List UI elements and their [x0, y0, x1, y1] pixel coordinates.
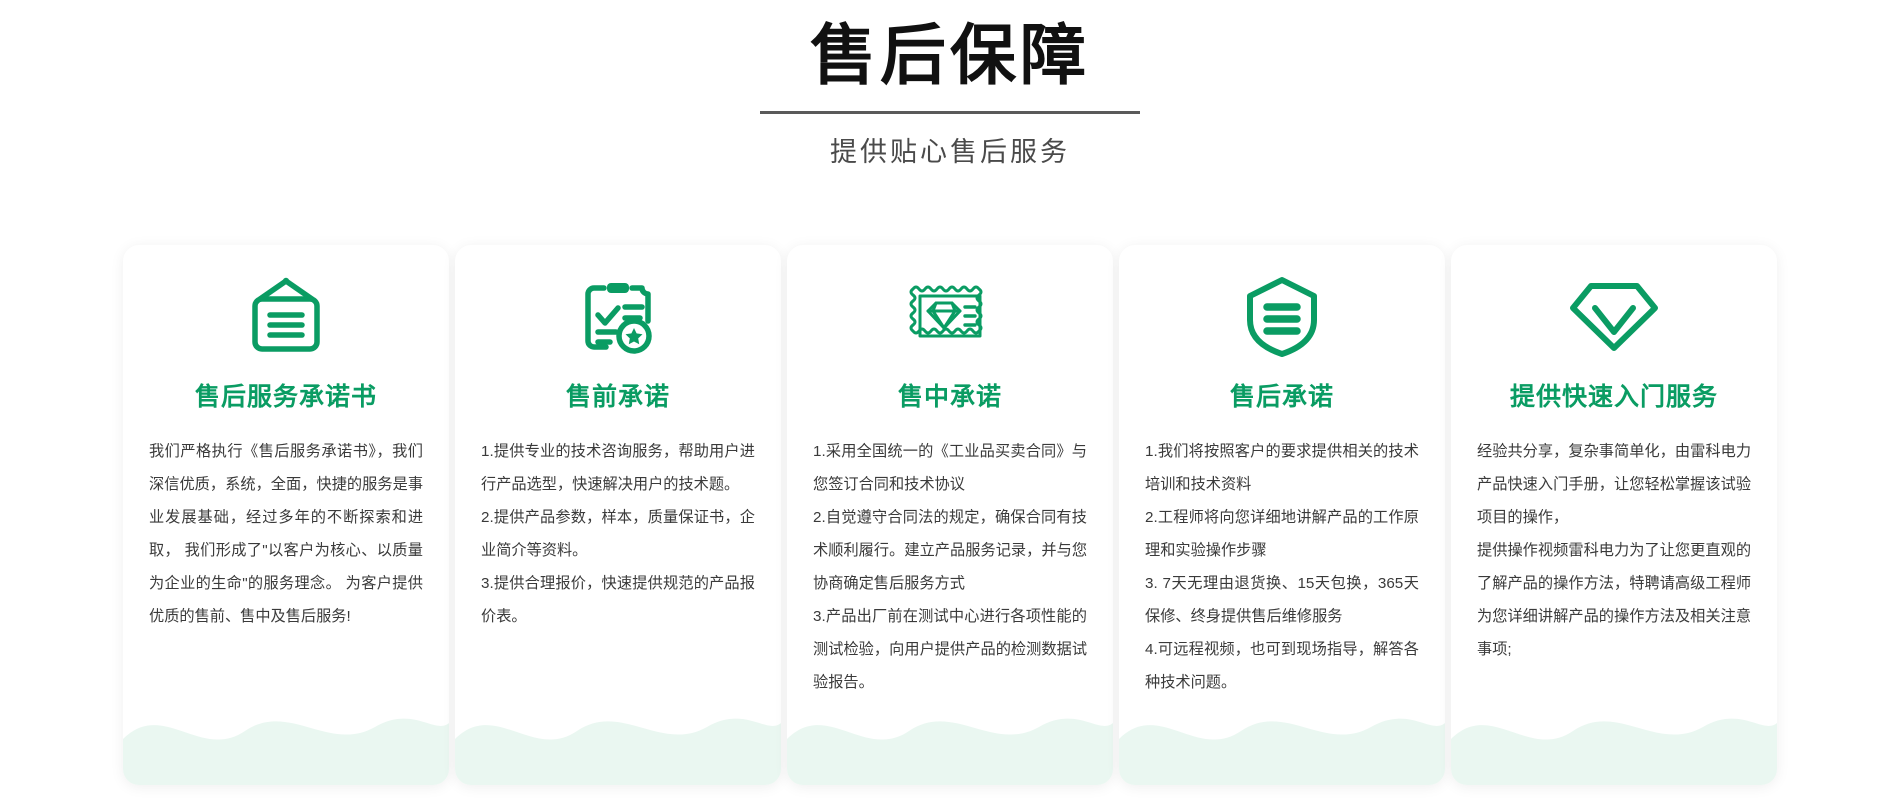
card-title: 提供快速入门服务 — [1510, 377, 1718, 413]
card-title: 售中承诺 — [898, 377, 1002, 413]
page-subtitle: 提供贴心售后服务 — [830, 130, 1070, 169]
service-card[interactable]: 提供快速入门服务 经验共分享，复杂事简单化，由雷科电力产品快速入门手册，让您轻松… — [1451, 245, 1777, 785]
diamond-check-icon — [1567, 257, 1661, 375]
subtitle-group: 提供贴心售后服务 — [0, 111, 1900, 169]
card-body-text: 1.提供专业的技术咨询服务，帮助用户进行产品选型，快速解决用户的技术题。 2.提… — [481, 435, 755, 633]
card-title: 售前承诺 — [566, 377, 670, 413]
page-header: 售后保障 提供贴心售后服务 — [0, 0, 1900, 169]
card-body-text: 经验共分享，复杂事简单化，由雷科电力产品快速入门手册，让您轻松掌握该试验项目的操… — [1477, 435, 1751, 666]
clipboard-check-star-icon — [576, 257, 660, 375]
card-body-text: 1.我们将按照客户的要求提供相关的技术培训和技术资料 2.工程师将向您详细地讲解… — [1145, 435, 1419, 699]
after-sales-guarantee-page: 售后保障 提供贴心售后服务 售后服务承诺书 — [0, 0, 1900, 806]
shield-document-icon — [1242, 257, 1322, 375]
card-body-text: 我们严格执行《售后服务承诺书》，我们深信优质，系统，全面，快捷的服务是事业发展基… — [149, 435, 423, 633]
card-title: 售后承诺 — [1230, 377, 1334, 413]
page-title: 售后保障 — [0, 14, 1900, 97]
divider-line — [760, 111, 1140, 114]
card-body-text: 1.采用全国统一的《工业品买卖合同》与您签订合同和技术协议 2.自觉遵守合同法的… — [813, 435, 1087, 699]
hanging-sign-icon — [244, 257, 328, 375]
card-title: 售后服务承诺书 — [195, 377, 377, 413]
service-card[interactable]: 售后服务承诺书 我们严格执行《售后服务承诺书》，我们深信优质，系统，全面，快捷的… — [123, 245, 449, 785]
service-card[interactable]: 售前承诺 1.提供专业的技术咨询服务，帮助用户进行产品选型，快速解决用户的技术题… — [455, 245, 781, 785]
service-card[interactable]: 售后承诺 1.我们将按照客户的要求提供相关的技术培训和技术资料 2.工程师将向您… — [1119, 245, 1445, 785]
stamp-diamond-icon — [907, 257, 993, 375]
service-card[interactable]: 售中承诺 1.采用全国统一的《工业品买卖合同》与您签订合同和技术协议 2.自觉遵… — [787, 245, 1113, 785]
service-card-list: 售后服务承诺书 我们严格执行《售后服务承诺书》，我们深信优质，系统，全面，快捷的… — [0, 245, 1900, 785]
